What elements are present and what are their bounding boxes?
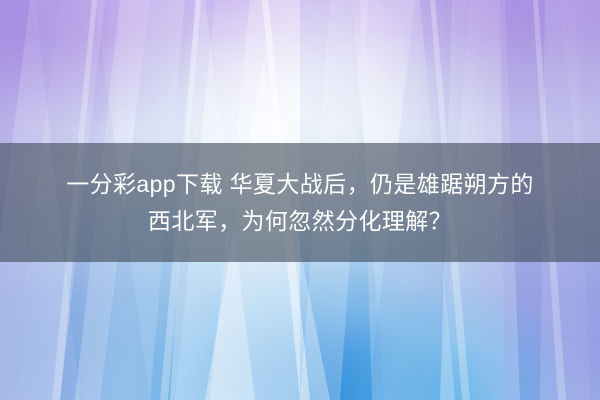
caption-line-1: 一分彩app下载 华夏大战后，仍是雄踞朔方的 xyxy=(66,166,534,203)
caption-line-2: 西北军，为何忽然分化理解？ xyxy=(148,203,452,240)
watermark-text: · · xyxy=(0,386,600,396)
article-banner-image: 一分彩app下载 华夏大战后，仍是雄踞朔方的 西北军，为何忽然分化理解？ · · xyxy=(0,0,600,400)
caption-overlay-band: 一分彩app下载 华夏大战后，仍是雄踞朔方的 西北军，为何忽然分化理解？ xyxy=(0,143,600,262)
